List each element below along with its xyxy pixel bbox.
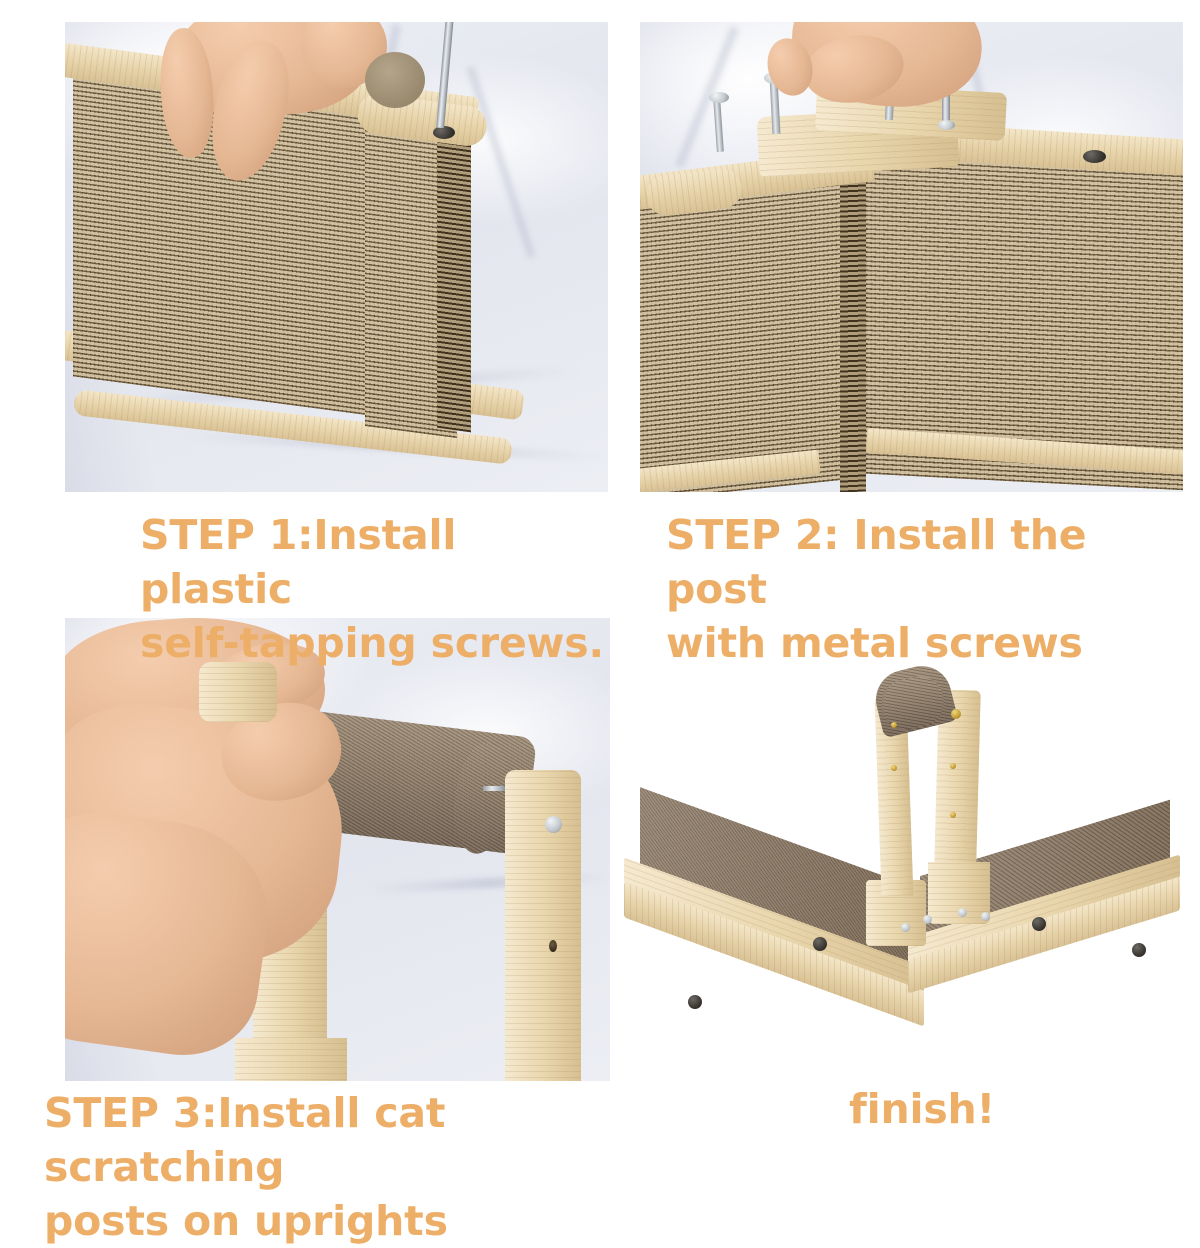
black-screw-cap [1132, 943, 1146, 957]
step-2-caption: STEP 2: Install the post with metal scre… [666, 508, 1166, 670]
wooden-block [199, 662, 277, 722]
brass-screw [950, 812, 956, 818]
metal-screw-head [709, 92, 729, 103]
brass-screw [891, 722, 897, 728]
finish-caption: finish! [849, 1082, 1149, 1136]
step-1-caption: STEP 1:Install plastic self-tapping scre… [140, 508, 610, 670]
black-screw-cap [1032, 917, 1046, 931]
metal-screw-shank [483, 786, 505, 791]
plastic-screw-cap [1083, 150, 1106, 163]
pilot-hole [549, 940, 557, 952]
finished-product-photo [620, 640, 1180, 1085]
instruction-sheet: STEP 1:Install plastic self-tapping scre… [0, 0, 1200, 1200]
metal-screw [981, 912, 990, 921]
metal-screw-head [938, 120, 955, 130]
black-screw-cap [813, 937, 827, 951]
brass-screw [950, 763, 956, 769]
brass-screw [891, 765, 897, 771]
corrugated-cardboard-panel-left [640, 178, 856, 492]
metal-screw-head [545, 816, 562, 833]
cardboard-cut-edge [437, 138, 471, 433]
step-3-caption: STEP 3:Install cat scratching posts on u… [44, 1086, 644, 1248]
brass-screw [951, 709, 961, 719]
spool [365, 52, 425, 108]
black-screw-cap [688, 995, 702, 1009]
metal-screw [923, 915, 932, 924]
step-3-photo [65, 618, 610, 1081]
cardboard-joint-edge [840, 171, 866, 492]
metal-screw [901, 923, 910, 932]
metal-screw [958, 908, 967, 917]
wooden-upright-right [505, 770, 581, 1081]
wooden-upright-left-foot [235, 1038, 347, 1081]
step-1-photo [65, 22, 608, 492]
step-2-photo [640, 22, 1183, 492]
